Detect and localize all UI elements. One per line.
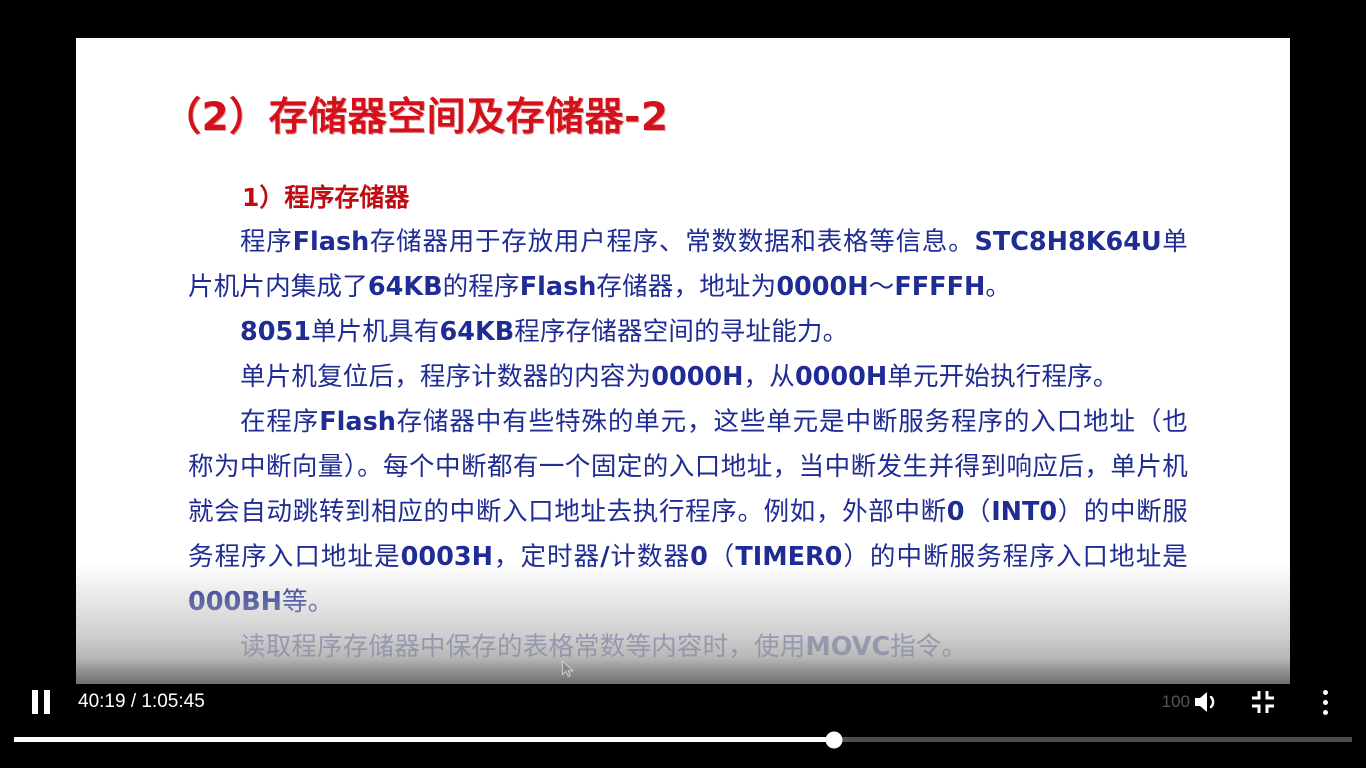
progress-played — [14, 737, 834, 742]
paragraph-5: 读取程序存储器中保存的表格常数等内容时，使用MOVC指令。 — [188, 625, 1188, 670]
exit-fullscreen-icon — [1250, 689, 1276, 715]
video-player: （2）存储器空间及存储器-2 1）程序存储器 程序Flash存储器用于存放用户程… — [0, 0, 1366, 768]
time-display: 40:19 / 1:05:45 — [78, 691, 205, 713]
section-heading: 1）程序存储器 — [242, 178, 1188, 214]
fullscreen-button[interactable] — [1240, 679, 1286, 725]
section-heading-text: ）程序存储器 — [259, 183, 409, 212]
slide-title: （2）存储器空间及存储器-2 — [162, 86, 668, 142]
progress-bar[interactable] — [14, 737, 1352, 742]
paragraph-2: 8051单片机具有64KB程序存储器空间的寻址能力。 — [188, 310, 1188, 355]
slide-content: （2）存储器空间及存储器-2 1）程序存储器 程序Flash存储器用于存放用户程… — [76, 38, 1290, 684]
more-options-button[interactable] — [1302, 679, 1348, 725]
pause-icon — [32, 690, 50, 714]
kebab-menu-icon — [1323, 690, 1328, 715]
slide-body: 1）程序存储器 程序Flash存储器用于存放用户程序、常数数据和表格等信息。ST… — [188, 178, 1188, 670]
volume-button[interactable] — [1184, 679, 1230, 725]
controls-bar: 40:19 / 1:05:45 100 — [0, 674, 1366, 730]
paragraph-3: 单片机复位后，程序计数器的内容为0000H，从0000H单元开始执行程序。 — [188, 355, 1188, 400]
progress-handle[interactable] — [826, 731, 843, 748]
paragraph-4: 在程序Flash存储器中有些特殊的单元，这些单元是中断服务程序的入口地址（也称为… — [188, 400, 1188, 625]
speaker-icon — [1192, 689, 1222, 715]
section-heading-number: 1 — [242, 183, 259, 212]
letterbox-left — [0, 0, 76, 768]
paragraph-1: 程序Flash存储器用于存放用户程序、常数数据和表格等信息。STC8H8K64U… — [188, 220, 1188, 310]
play-pause-button[interactable] — [18, 679, 64, 725]
letterbox-right — [1290, 0, 1366, 768]
bottom-letterbox — [0, 754, 1366, 768]
volume-control[interactable]: 100 — [1162, 679, 1230, 725]
